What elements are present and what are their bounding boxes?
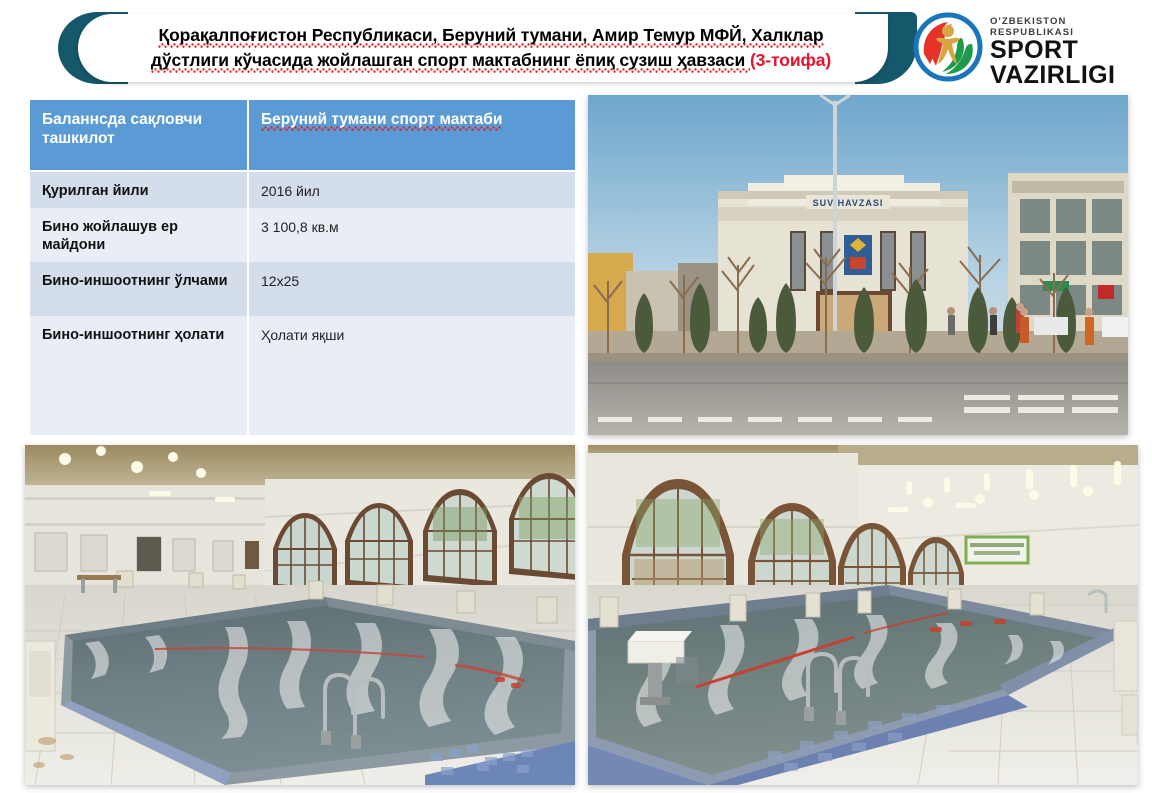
table-cell-label: Бино жойлашув ер майдони: [30, 208, 247, 262]
table-cell-value: Ҳолати яқши: [247, 316, 575, 435]
facility-info-table: Баланнсда сақловчи ташкилот Беруний тума…: [30, 100, 575, 435]
page-title-line-1: Қорақалпоғистон Республикаси, Беруний ту…: [158, 25, 823, 48]
table-cell-label: Бино-иншоотнинг ҳолати: [30, 316, 247, 435]
logo-line-1: SPORT: [990, 38, 1142, 63]
table-cell-label: Бино-иншоотнинг ўлчами: [30, 262, 247, 316]
table-row: Бино-иншоотнинг ҳолати Ҳолати яқши: [30, 316, 575, 435]
indoor-pool-photo-view-1: [25, 445, 575, 785]
logo-wordmark: O'ZBEKISTON RESPUBLIKASI SPORT VAZIRLIGI: [990, 16, 1142, 88]
building-exterior-photo: SUV HAVZASI: [588, 95, 1128, 435]
table-header-row: Баланнсда сақловчи ташкилот Беруний тума…: [30, 100, 575, 172]
page-title-category-badge: (3-тоифа): [750, 50, 831, 70]
indoor-pool-photo-view-2: [588, 445, 1138, 785]
page-title: Қорақалпоғистон Республикаси, Беруний ту…: [96, 23, 886, 73]
table-cell-value: 2016 йил: [247, 172, 575, 208]
logo-line-2: VAZIRLIGI: [990, 63, 1142, 88]
table-header-label: Баланнсда сақловчи ташкилот: [30, 100, 247, 172]
sport-emblem-icon: [912, 12, 984, 82]
table-row: Бино жойлашув ер майдони 3 100,8 кв.м: [30, 208, 575, 262]
page-title-line-2: дўстлиги кўчасида жойлашган спорт мактаб…: [151, 50, 750, 73]
table-row: Бино-иншоотнинг ўлчами 12х25: [30, 262, 575, 316]
table-row: Қурилган йили 2016 йил: [30, 172, 575, 208]
table-cell-value: 12х25: [247, 262, 575, 316]
table-cell-value: 3 100,8 кв.м: [247, 208, 575, 262]
table-header-value: Беруний тумани спорт мактаби: [261, 111, 502, 131]
svg-text:SUV HAVZASI: SUV HAVZASI: [813, 198, 884, 208]
slide-header: Қорақалпоғистон Республикаси, Беруний ту…: [0, 0, 1152, 93]
table-cell-label: Қурилган йили: [30, 172, 247, 208]
logo-superline: O'ZBEKISTON RESPUBLIKASI: [990, 16, 1142, 38]
ministry-logo: O'ZBEKISTON RESPUBLIKASI SPORT VAZIRLIGI: [912, 8, 1142, 86]
